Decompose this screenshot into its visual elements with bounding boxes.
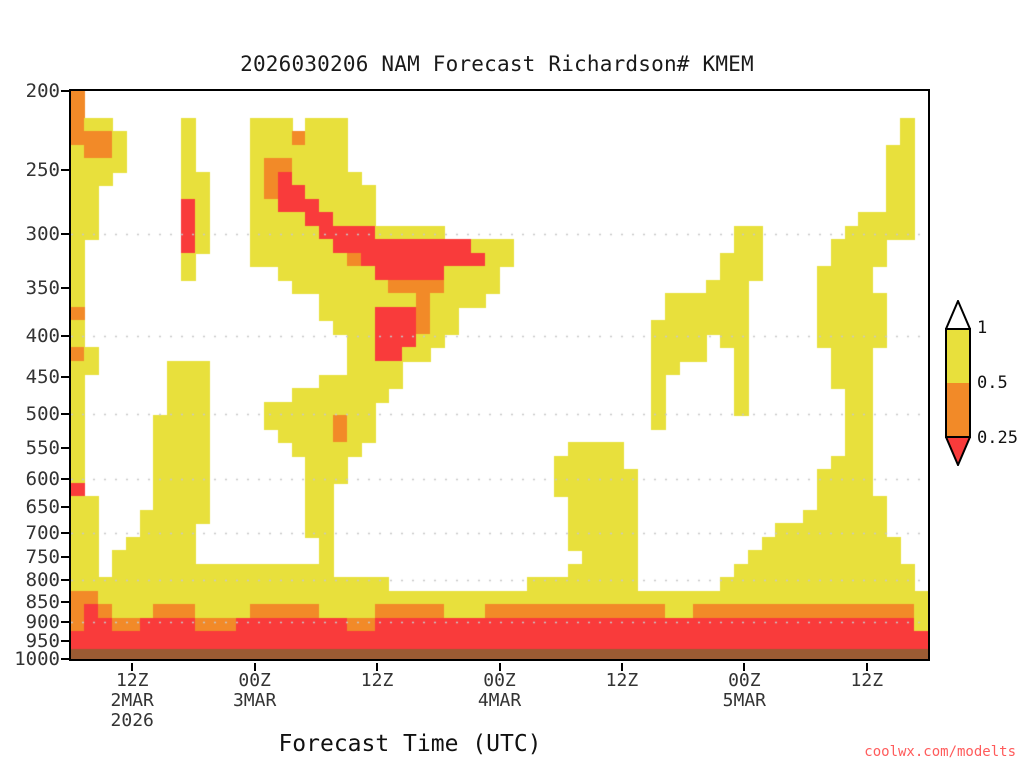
x-axis-tick-label-group: 12Z <box>851 671 884 691</box>
x-axis-tick-date: 4MAR <box>478 691 521 711</box>
y-axis-tick-label: 300 <box>0 223 60 245</box>
colorbar-tick-label: 0.25 <box>977 428 1018 448</box>
page-title: 2026030206 NAM Forecast Richardson# KMEM <box>0 52 1024 76</box>
x-axis-tick-time: 00Z <box>478 671 521 691</box>
y-axis-tick-mark <box>61 90 70 92</box>
y-axis-tick-mark <box>61 640 70 642</box>
y-axis-tick-label: 750 <box>0 546 60 568</box>
x-axis-tick-year: 2026 <box>111 711 154 731</box>
x-axis-tick-time: 12Z <box>361 671 394 691</box>
colorbar-segment-orange <box>947 383 969 436</box>
colorbar-arrow-top-icon <box>945 300 971 330</box>
y-axis-tick-mark <box>61 413 70 415</box>
y-axis-tick-label: 700 <box>0 522 60 544</box>
y-axis-tick-mark <box>61 506 70 508</box>
plot-area <box>69 89 930 661</box>
x-axis-tick-label-group: 12Z <box>361 671 394 691</box>
x-axis-tick-label-group: 12Z <box>606 671 639 691</box>
x-axis-tick-time: 12Z <box>111 671 154 691</box>
x-axis-tick-date: 3MAR <box>233 691 276 711</box>
colorbar-arrow-bottom-icon <box>945 436 971 466</box>
y-axis-tick-mark <box>61 287 70 289</box>
colorbar-body <box>945 328 971 438</box>
x-axis-title-text: Forecast Time (UTC) <box>278 731 541 757</box>
y-axis-tick-label: 600 <box>0 468 60 490</box>
y-axis-tick-mark <box>61 478 70 480</box>
y-axis-tick-label: 850 <box>0 591 60 613</box>
colorbar-arrow-top <box>945 300 971 330</box>
y-axis-tick-label: 550 <box>0 437 60 459</box>
colorbar-legend: 10.50.25 <box>941 300 975 466</box>
x-axis-tick-label-group: 12Z2MAR2026 <box>111 671 154 731</box>
y-axis-tick-mark <box>61 335 70 337</box>
x-axis-tick-time: 00Z <box>723 671 766 691</box>
colorbar-tick-label: 1 <box>977 318 987 338</box>
ground-terrain-canvas <box>71 91 928 659</box>
colorbar-tick-label: 0.5 <box>977 373 1008 393</box>
y-axis-tick-mark <box>61 579 70 581</box>
x-axis-tick-time: 12Z <box>606 671 639 691</box>
colorbar-arrow-bottom <box>945 436 971 466</box>
y-axis-tick-mark <box>61 532 70 534</box>
x-axis-tick-label-group: 00Z5MAR <box>723 671 766 711</box>
y-axis-tick-mark <box>61 376 70 378</box>
x-axis-title: Forecast Time (UTC) <box>0 731 820 757</box>
y-axis-tick-mark <box>61 658 70 660</box>
y-axis-tick-mark <box>61 447 70 449</box>
y-axis-labels: 2002503003504004505005506006507007508008… <box>0 0 60 768</box>
y-axis-tick-mark <box>61 621 70 623</box>
watermark-text: coolwx.com/modelts <box>864 744 1016 760</box>
y-axis-tick-label: 400 <box>0 325 60 347</box>
chart-page: 2026030206 NAM Forecast Richardson# KMEM… <box>0 0 1024 768</box>
x-axis-tick-date: 5MAR <box>723 691 766 711</box>
y-axis-tick-label: 350 <box>0 277 60 299</box>
x-axis-tick-date: 2MAR <box>111 691 154 711</box>
y-axis-tick-label: 450 <box>0 366 60 388</box>
y-axis-tick-mark <box>61 556 70 558</box>
page-title-text: 2026030206 NAM Forecast Richardson# KMEM <box>240 52 754 76</box>
y-axis-tick-mark <box>61 169 70 171</box>
y-axis-tick-mark <box>61 601 70 603</box>
watermark-link[interactable]: coolwx.com/modelts <box>864 744 1016 760</box>
y-axis-tick-label: 650 <box>0 496 60 518</box>
y-axis-tick-mark <box>61 233 70 235</box>
colorbar-segment-yellow <box>947 330 969 383</box>
x-axis-tick-label-group: 00Z3MAR <box>233 671 276 711</box>
x-axis-tick-label-group: 00Z4MAR <box>478 671 521 711</box>
y-axis-tick-label: 200 <box>0 80 60 102</box>
y-axis-tick-label: 800 <box>0 569 60 591</box>
x-axis-tick-time: 12Z <box>851 671 884 691</box>
y-axis-tick-label: 500 <box>0 403 60 425</box>
y-axis-ticks <box>61 0 71 768</box>
x-axis-tick-time: 00Z <box>233 671 276 691</box>
y-axis-tick-label: 250 <box>0 159 60 181</box>
